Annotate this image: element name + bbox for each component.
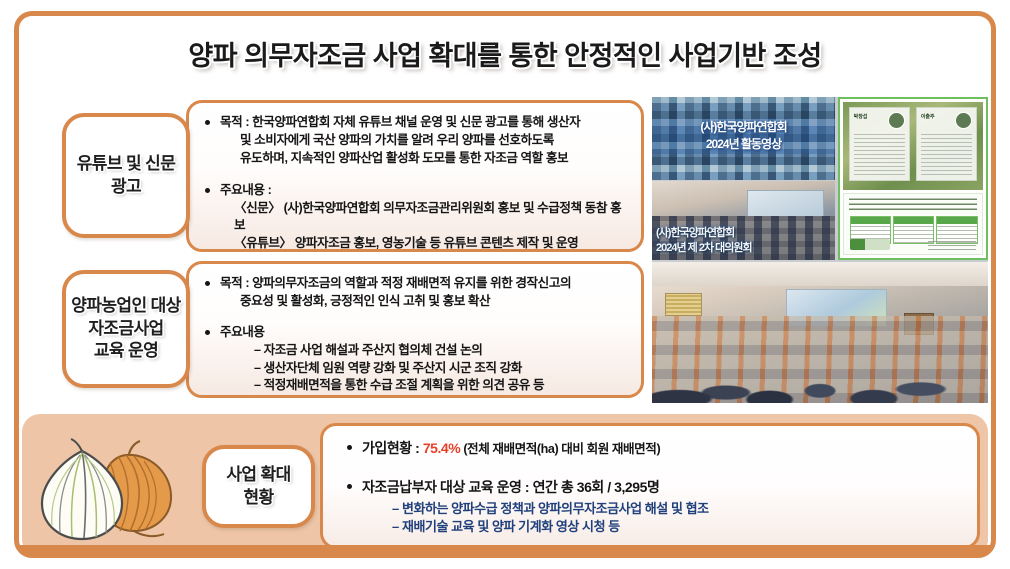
bullet-line: 주요내용 : — [220, 182, 631, 200]
section-panel-farmer-education: 목적 : 양파의무자조금의 역할과 적정 재배면적 유지를 위한 경작신고의 중… — [186, 261, 644, 398]
page-title: 양파 의무자조금 사업 확대를 통한 안정적인 사업기반 조성 — [188, 34, 821, 73]
membership-value: 75.4% — [423, 440, 460, 456]
education-main: 자조금납부자 대상 교육 운영 : 연간 총 36회 / 3,295명 — [362, 478, 967, 498]
bullet-list: 목적 : 양파의무자조금의 역할과 적정 재배면적 유지를 위한 경작신고의 중… — [189, 264, 641, 395]
slide-title-bar: 양파 의무자조금 사업 확대를 통한 안정적인 사업기반 조성 — [0, 34, 1010, 73]
label-line: 사업 확대 — [226, 464, 290, 486]
section-label-text: 유튜브 및 신문 광고 — [77, 153, 176, 198]
bullet-line: 유도하며, 지속적인 양파산업 활성화 도모를 통한 자조금 역할 홍보 — [220, 150, 631, 168]
bullet-line: – 적정재배면적을 통한 수급 조절 계획을 위한 의견 공유 등 — [220, 377, 631, 395]
label-line: 자조금사업 — [71, 318, 180, 340]
education-sub-line: – 재배기술 교육 및 양파 기계화 영상 시청 등 — [362, 518, 967, 536]
bullet-line: 중요성 및 활성화, 긍정적인 인식 고취 및 홍보 확산 — [220, 293, 631, 311]
slide-root: 양파 의무자조금 사업 확대를 통한 안정적인 사업기반 조성 유튜브 및 신문… — [0, 0, 1010, 569]
education-sub-line: – 변화하는 양파수급 정책과 양파의무자조금사업 해설 및 협조 — [362, 500, 967, 518]
label-line: 교육 운영 — [71, 340, 180, 362]
ad-person-name: 이출주 — [921, 113, 935, 120]
ad-partner-logo — [928, 239, 976, 250]
bullet-item: 목적 : 한국양파연합회 자체 유튜브 채널 운영 및 신문 광고를 통해 생산… — [203, 114, 631, 168]
bullet-line: – 생산자단체 임원 역량 강화 및 주산지 시군 조직 강화 — [220, 360, 631, 378]
projector-screen — [747, 190, 824, 217]
newspaper-advertisement: 박창섭 이출주 — [838, 97, 988, 260]
section-label-expansion-status: 사업 확대 현황 — [202, 445, 315, 528]
bullet-item: 목적 : 양파의무자조금의 역할과 적정 재배면적 유지를 위한 경작신고의 중… — [203, 275, 631, 311]
bullet-item: 주요내용 – 자조금 사업 해설과 주산지 협의체 건설 논의 – 생산자단체 … — [203, 324, 631, 396]
section-label-youtube-newspaper: 유튜브 및 신문 광고 — [62, 113, 190, 238]
photo-collage: (사)한국양파연합회 2024년 활동영상 (사)한국양파연합회 2024년 제… — [652, 97, 988, 403]
ad-info-box-header — [851, 217, 890, 224]
video-title-line: (사)한국양파연합회 — [656, 226, 752, 241]
section-label-farmer-education: 양파농업인 대상 자조금사업 교육 운영 — [62, 270, 190, 388]
ad-body-text — [854, 132, 906, 175]
label-line: 양파농업인 대상 — [71, 295, 180, 317]
ad-person-name: 박창섭 — [854, 113, 868, 120]
bullet-line: 주요내용 — [220, 324, 631, 342]
section-label-text: 사업 확대 현황 — [226, 464, 290, 509]
bullet-list: 가입현황 : 75.4% (전체 재배면적(ha) 대비 회원 재배면적) 자조… — [323, 426, 977, 537]
label-line: 현황 — [226, 487, 290, 509]
section-panel-youtube-newspaper: 목적 : 한국양파연합회 자체 유튜브 채널 운영 및 신문 광고를 통해 생산… — [186, 100, 644, 252]
bullet-item-membership: 가입현황 : 75.4% (전체 재배면적(ha) 대비 회원 재배면적) — [345, 439, 967, 459]
bullet-item: 주요내용 : 〈신문〉 (사)한국양파연합회 의무자조금관리위원회 홍보 및 수… — [203, 182, 631, 254]
bullet-line: 〈유튜브〉 양파자조금 홍보, 영농기술 등 유튜브 콘텐츠 제작 및 운영 — [220, 235, 631, 253]
ad-info-box-header — [894, 217, 933, 224]
ad-headline — [849, 198, 977, 210]
ad-photo-background: 박창섭 이출주 — [843, 102, 983, 190]
bullet-line: 목적 : 한국양파연합회 자체 유튜브 채널 운영 및 신문 광고를 통해 생산… — [220, 114, 631, 132]
bullet-line: – 자조금 사업 해설과 주산지 협의체 건설 논의 — [220, 342, 631, 360]
section-label-text: 양파농업인 대상 자조금사업 교육 운영 — [71, 295, 180, 362]
bullet-line: 목적 : 양파의무자조금의 역할과 적정 재배면적 유지를 위한 경작신고의 — [220, 275, 631, 293]
youtube-thumbnail-delegate-meeting: (사)한국양파연합회 2024년 제 2차 대의원회 — [652, 181, 835, 260]
ad-portrait — [955, 112, 972, 129]
audience-seating — [652, 316, 988, 403]
bullet-line: 및 소비자에게 국산 양파의 가치를 알려 우리 양파를 선호하도록 — [220, 132, 631, 150]
section-panel-expansion-status: 가입현황 : 75.4% (전체 재배면적(ha) 대비 회원 재배면적) 자조… — [320, 423, 980, 549]
bullet-list: 목적 : 한국양파연합회 자체 유튜브 채널 운영 및 신문 광고를 통해 생산… — [189, 103, 641, 253]
photo-lecture-hall — [652, 262, 988, 403]
ad-portrait — [888, 112, 905, 129]
ad-interview-card-right: 이출주 — [916, 107, 978, 181]
video-title-line: 2024년 제 2차 대의원회 — [656, 241, 752, 256]
video-title: (사)한국양파연합회 2024년 활동영상 — [652, 119, 835, 154]
ad-interview-card-left: 박창섭 — [849, 107, 911, 181]
ad-info-box-header — [937, 217, 976, 224]
window-blinds — [665, 293, 702, 316]
video-title: (사)한국양파연합회 2024년 제 2차 대의원회 — [656, 226, 752, 256]
onion-illustration — [30, 437, 200, 547]
membership-suffix: (전체 재배면적(ha) 대비 회원 재배면적) — [460, 442, 660, 456]
ad-association-logo — [850, 239, 890, 250]
ad-lower-section — [843, 193, 983, 255]
ceiling — [652, 262, 988, 286]
membership-prefix: 가입현황 : — [362, 440, 423, 456]
youtube-thumbnail-activity-video: (사)한국양파연합회 2024년 활동영상 — [652, 97, 835, 180]
video-title-line: 2024년 활동영상 — [652, 136, 835, 153]
bullet-line: 〈신문〉 (사)한국양파연합회 의무자조금관리위원회 홍보 및 수급정책 동참 … — [220, 200, 631, 236]
bullet-item-education: 자조금납부자 대상 교육 운영 : 연간 총 36회 / 3,295명 – 변화… — [345, 478, 967, 537]
label-line: 광고 — [77, 176, 176, 198]
ad-body-text — [921, 132, 973, 175]
video-title-line: (사)한국양파연합회 — [652, 119, 835, 136]
label-line: 유튜브 및 신문 — [77, 153, 176, 175]
